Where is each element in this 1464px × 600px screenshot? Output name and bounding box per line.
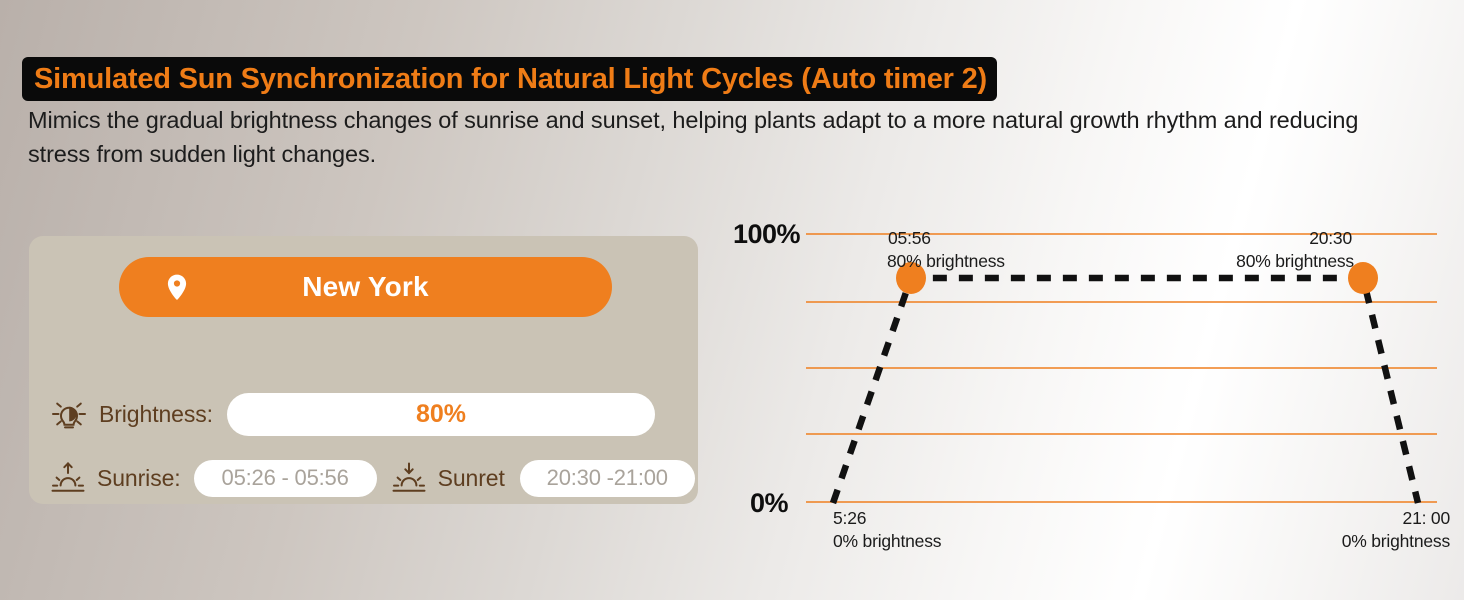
chart-point-brightness: 0% brightness (833, 530, 941, 553)
chart-point-time: 05:56 (888, 227, 1005, 250)
page-title: Simulated Sun Synchronization for Natura… (34, 63, 987, 96)
chart-point-time: 5:26 (833, 507, 941, 530)
brightness-label: Brightness: (99, 401, 213, 428)
sunset-time-field[interactable]: 20:30 -21:00 (520, 460, 695, 497)
chart-point-time: 21: 00 (1240, 507, 1450, 530)
sunset-icon (391, 460, 427, 496)
chart-point-brightness: 80% brightness (887, 250, 1005, 273)
brightness-curve-chart: 100% 0% 05:56 80% brightness 20:30 80% b… (720, 205, 1464, 570)
chart-point-label-sunset: 20:30 80% brightness (1154, 227, 1354, 273)
sunset-label: Sunret (438, 465, 505, 492)
chart-point-label-start: 5:26 0% brightness (833, 507, 941, 553)
location-name: New York (119, 271, 612, 303)
slide-root: Simulated Sun Synchronization for Natura… (0, 0, 1464, 600)
sun-times-row: Sunrise: 05:26 - 05:56 (50, 458, 695, 498)
sunrise-icon (50, 460, 86, 496)
y-axis-max-label: 100% (733, 219, 800, 250)
page-description: Mimics the gradual brightness changes of… (28, 103, 1378, 171)
control-panel: New York Brightness: 80% (29, 236, 698, 504)
page-title-banner: Simulated Sun Synchronization for Natura… (22, 57, 997, 101)
sunset-icon-wrapper (391, 460, 427, 496)
sunset-time-value: 20:30 -21:00 (547, 465, 668, 491)
sunrise-time-field[interactable]: 05:26 - 05:56 (194, 460, 377, 497)
chart-point-time: 20:30 (1154, 227, 1352, 250)
brightness-value-field[interactable]: 80% (227, 393, 655, 436)
sunrise-time-value: 05:26 - 05:56 (222, 465, 349, 491)
sunrise-label: Sunrise: (97, 465, 181, 492)
brightness-row: Brightness: 80% (50, 392, 655, 436)
map-pin-icon (166, 274, 188, 300)
chart-point-brightness: 0% brightness (1240, 530, 1450, 553)
brightness-value: 80% (416, 400, 466, 429)
chart-point-brightness: 80% brightness (1154, 250, 1354, 273)
chart-point-label-sunrise: 05:56 80% brightness (887, 227, 1005, 273)
y-axis-min-label: 0% (750, 488, 788, 519)
chart-line (833, 278, 1418, 503)
brightness-bulb-icon (50, 395, 88, 433)
location-button[interactable]: New York (119, 257, 612, 317)
chart-point-label-end: 21: 00 0% brightness (1240, 507, 1450, 553)
